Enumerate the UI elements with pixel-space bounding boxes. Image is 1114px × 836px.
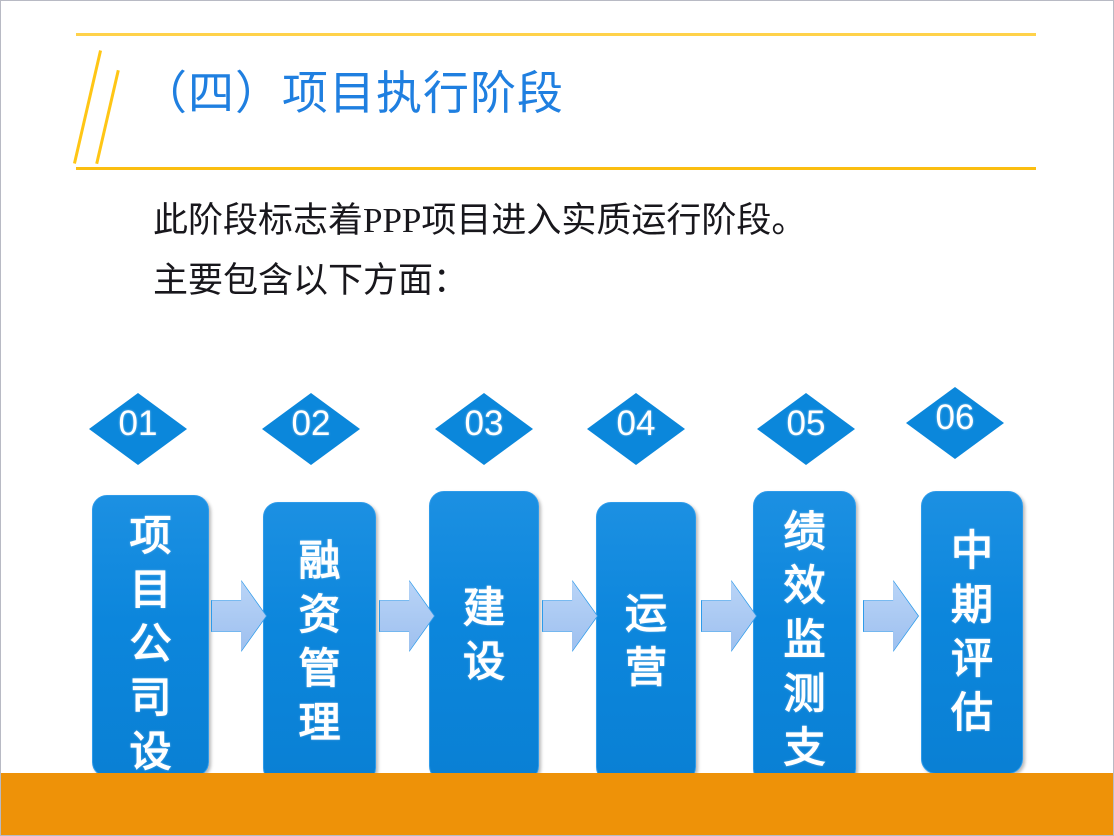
arrow-right-icon-fill — [864, 581, 918, 651]
step-number-label: 06 — [906, 399, 1004, 437]
process-step-box-05[interactable]: 绩效监测支付 — [753, 491, 856, 784]
step-number-diamond-06: 06 — [906, 387, 1004, 459]
title-slash-decoration-2 — [95, 70, 120, 164]
process-step-label: 中期评估 — [946, 525, 998, 741]
process-step-box-01[interactable]: 项目公司设立 — [92, 495, 209, 777]
slide-title: （四）项目执行阶段 — [141, 63, 564, 123]
title-rule-bottom — [76, 167, 1036, 170]
process-step-box-06[interactable]: 中期评估 — [921, 491, 1023, 774]
arrow-right-icon-fill — [212, 581, 266, 651]
step-number-label: 01 — [89, 405, 187, 443]
step-number-diamond-04: 04 — [587, 393, 685, 465]
footer-band — [1, 773, 1114, 835]
process-arrow-5 — [863, 580, 919, 652]
step-number-label: 04 — [587, 405, 685, 443]
presentation-slide: （四）项目执行阶段 此阶段标志着PPP项目进入实质运行阶段。 主要包含以下方面：… — [0, 0, 1114, 836]
body-line-2: 主要包含以下方面： — [153, 251, 1013, 311]
step-number-label: 05 — [757, 405, 855, 443]
step-number-label: 02 — [262, 405, 360, 443]
process-step-box-02[interactable]: 融资管理 — [263, 502, 376, 783]
process-step-label: 建设 — [458, 582, 510, 690]
body-line-1: 此阶段标志着PPP项目进入实质运行阶段。 — [153, 191, 1013, 251]
process-step-box-04[interactable]: 运营 — [596, 502, 696, 782]
step-number-diamond-05: 05 — [757, 393, 855, 465]
process-step-box-03[interactable]: 建设 — [429, 491, 539, 781]
arrow-right-icon-fill — [380, 581, 434, 651]
process-step-label: 融资管理 — [294, 535, 346, 751]
title-slash-decoration-1 — [73, 50, 102, 164]
process-arrow-1 — [211, 580, 267, 652]
step-number-diamond-02: 02 — [262, 393, 360, 465]
process-arrow-4 — [701, 580, 757, 652]
step-number-diamond-01: 01 — [89, 393, 187, 465]
process-arrow-2 — [379, 580, 435, 652]
step-number-label: 03 — [435, 405, 533, 443]
slide-body-text: 此阶段标志着PPP项目进入实质运行阶段。 主要包含以下方面： — [153, 191, 1013, 311]
arrow-right-icon-fill — [543, 581, 597, 651]
process-step-label: 运营 — [620, 588, 672, 696]
step-number-diamond-03: 03 — [435, 393, 533, 465]
arrow-right-icon-fill — [702, 581, 756, 651]
title-rule-top — [76, 33, 1036, 36]
process-arrow-3 — [542, 580, 598, 652]
